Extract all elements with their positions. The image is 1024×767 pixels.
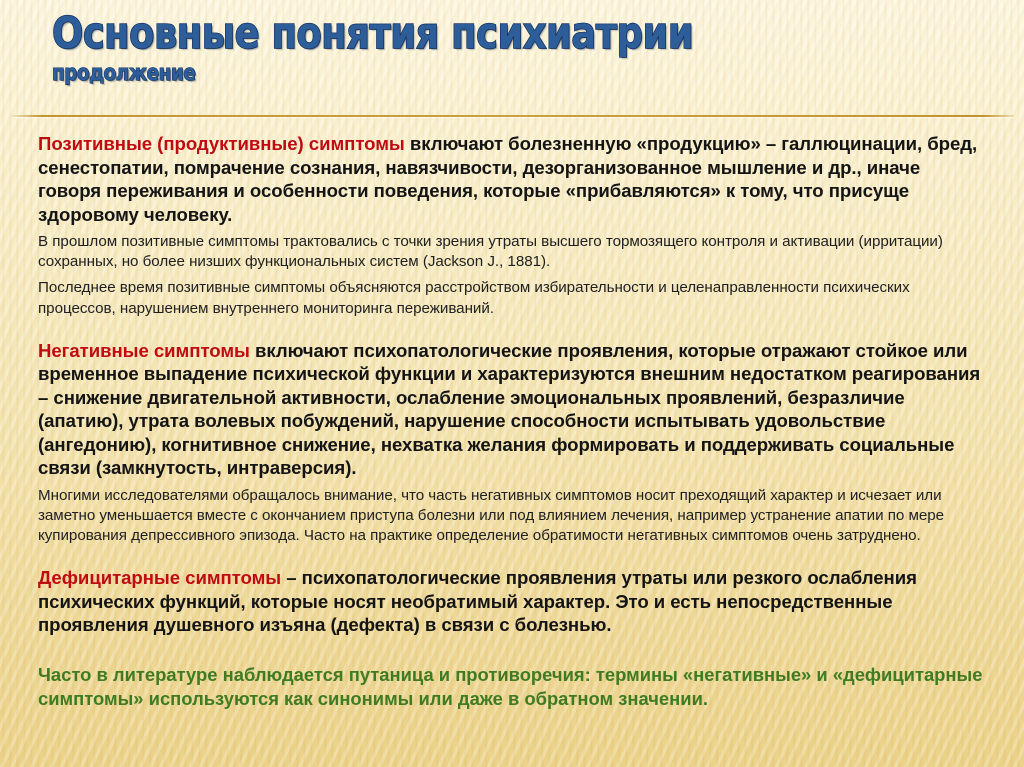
paragraph-deficit-symptoms: Дефицитарные симптомы – психопатологичес… <box>38 566 986 637</box>
title-divider <box>12 115 1014 117</box>
paragraph-negative-symptoms: Негативные симптомы включают психопатоло… <box>38 339 986 480</box>
note-negative-reversibility: Многими исследователями обращалось внима… <box>38 486 986 547</box>
paragraph-conclusion: Часто в литературе наблюдается путаница … <box>38 663 986 711</box>
note-positive-historical: В прошлом позитивные симптомы трактовали… <box>38 232 986 272</box>
page-title: Основные понятия психиатрии <box>52 12 917 56</box>
page-subtitle: продолжение <box>52 63 917 85</box>
lead-deficit-symptoms: Дефицитарные симптомы <box>38 567 281 588</box>
slide-body: Позитивные (продуктивные) симптомы включ… <box>38 132 986 711</box>
note-positive-modern: Последнее время позитивные симптомы объя… <box>38 278 986 318</box>
paragraph-positive-symptoms: Позитивные (продуктивные) симптомы включ… <box>38 132 986 226</box>
presentation-slide: Основные понятия психиатрии продолжение … <box>0 0 1024 767</box>
title-block: Основные понятия психиатрии продолжение <box>52 12 982 85</box>
lead-positive-symptoms: Позитивные (продуктивные) симптомы <box>38 133 405 154</box>
lead-negative-symptoms: Негативные симптомы <box>38 340 250 361</box>
